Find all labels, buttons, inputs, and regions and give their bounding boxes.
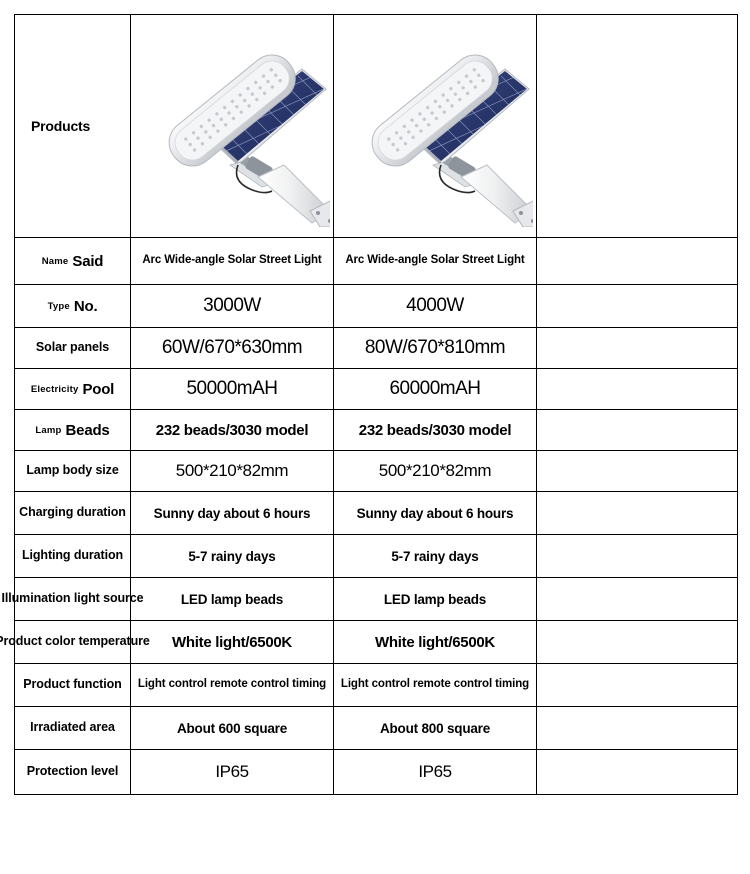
table-row: Type No. 3000W 4000W — [15, 285, 738, 328]
row-label-lighting-duration: Lighting duration — [15, 535, 131, 578]
blank-cell — [537, 410, 738, 451]
cell-value: 5-7 rainy days — [131, 549, 333, 564]
blank-cell — [537, 451, 738, 492]
cell-value: 60W/670*630mm — [131, 337, 333, 359]
row-label-lamp-beads: Lamp Beads — [15, 410, 131, 451]
row-label-main: Illumination light source — [2, 591, 144, 607]
blank-cell — [537, 621, 738, 664]
row-label-main: Lighting duration — [22, 548, 123, 564]
row-label-illumination-light-source: Illumination light source — [15, 578, 131, 621]
cell-value: IP65 — [334, 762, 536, 782]
row-label-main: Beads — [66, 422, 110, 439]
solar-street-light-icon — [131, 15, 333, 237]
cell-value: Light control remote control timing — [334, 677, 536, 693]
row-label-main: Charging duration — [19, 505, 126, 521]
blank-cell — [537, 492, 738, 535]
cell-product-b: 60000mAH — [334, 369, 537, 410]
cell-value: Sunny day about 6 hours — [131, 506, 333, 521]
cell-value: IP65 — [131, 762, 333, 782]
cell-product-a: 500*210*82mm — [131, 451, 334, 492]
row-label-charging-duration: Charging duration — [15, 492, 131, 535]
cell-value: Sunny day about 6 hours — [334, 506, 536, 521]
table-row: Protection level IP65 IP65 — [15, 750, 738, 795]
product-a-image-cell — [131, 15, 334, 238]
row-label-main: Product color temperature — [0, 634, 150, 650]
cell-value: Light control remote control timing — [131, 677, 333, 693]
row-label-product-function: Product function — [15, 664, 131, 707]
cell-value: 80W/670*810mm — [334, 337, 536, 359]
table-row: Irradiated area About 600 square About 8… — [15, 707, 738, 750]
cell-value: About 800 square — [334, 721, 536, 736]
table-row: Lamp Beads 232 beads/3030 model 232 bead… — [15, 410, 738, 451]
row-label-lamp-body-size: Lamp body size — [15, 451, 131, 492]
cell-product-a: White light/6500K — [131, 621, 334, 664]
cell-product-b: 5-7 rainy days — [334, 535, 537, 578]
cell-product-a: Sunny day about 6 hours — [131, 492, 334, 535]
cell-product-a: Arc Wide-angle Solar Street Light — [131, 238, 334, 285]
cell-product-a: 60W/670*630mm — [131, 328, 334, 369]
product-specification-table: Products — [14, 14, 738, 795]
cell-value: Arc Wide-angle Solar Street Light — [334, 253, 536, 269]
blank-cell — [537, 535, 738, 578]
row-label-main: Said — [72, 253, 103, 270]
blank-cell — [537, 285, 738, 328]
cell-value: 3000W — [131, 295, 333, 317]
row-label-main: Protection level — [27, 764, 119, 780]
cell-product-b: 500*210*82mm — [334, 451, 537, 492]
cell-product-a: About 600 square — [131, 707, 334, 750]
blank-column-header-cell — [537, 15, 738, 238]
cell-value: LED lamp beads — [334, 592, 536, 607]
cell-value: 500*210*82mm — [334, 461, 536, 481]
table-row: Product color temperature White light/65… — [15, 621, 738, 664]
blank-cell — [537, 750, 738, 795]
cell-value: 4000W — [334, 295, 536, 317]
row-label-electricity-pool: Electricity Pool — [15, 369, 131, 410]
table-row: Lamp body size 500*210*82mm 500*210*82mm — [15, 451, 738, 492]
specification-sheet: Products — [0, 0, 750, 874]
row-label-type: Type No. — [15, 285, 131, 328]
cell-product-a: Light control remote control timing — [131, 664, 334, 707]
cell-value: 60000mAH — [334, 378, 536, 400]
row-label-solar-panels: Solar panels — [15, 328, 131, 369]
row-label-main: No. — [74, 298, 98, 315]
row-label-prefix: Name — [42, 256, 69, 267]
table-row: Solar panels 60W/670*630mm 80W/670*810mm — [15, 328, 738, 369]
cell-product-b: Sunny day about 6 hours — [334, 492, 537, 535]
cell-product-a: LED lamp beads — [131, 578, 334, 621]
cell-product-a: 3000W — [131, 285, 334, 328]
products-header-cell: Products — [15, 15, 131, 238]
cell-value: 50000mAH — [131, 378, 333, 400]
cell-value: 232 beads/3030 model — [334, 422, 536, 439]
cell-product-b: LED lamp beads — [334, 578, 537, 621]
cell-product-b: White light/6500K — [334, 621, 537, 664]
cell-value: 500*210*82mm — [131, 461, 333, 481]
cell-value: White light/6500K — [131, 634, 333, 651]
cell-value: Arc Wide-angle Solar Street Light — [131, 253, 333, 269]
blank-cell — [537, 369, 738, 410]
table-body: Products — [15, 15, 738, 795]
table-row: Charging duration Sunny day about 6 hour… — [15, 492, 738, 535]
cell-product-a: 5-7 rainy days — [131, 535, 334, 578]
row-label-prefix: Lamp — [35, 425, 61, 436]
row-label-prefix: Type — [48, 301, 70, 312]
blank-cell — [537, 707, 738, 750]
cell-product-b: Arc Wide-angle Solar Street Light — [334, 238, 537, 285]
cell-value: 5-7 rainy days — [334, 549, 536, 564]
cell-product-b: 232 beads/3030 model — [334, 410, 537, 451]
blank-cell — [537, 238, 738, 285]
cell-value: LED lamp beads — [131, 592, 333, 607]
cell-product-b: 4000W — [334, 285, 537, 328]
cell-product-a: 50000mAH — [131, 369, 334, 410]
row-label-name: Name Said — [15, 238, 131, 285]
solar-street-light-icon — [334, 15, 536, 237]
cell-product-b: About 800 square — [334, 707, 537, 750]
blank-cell — [537, 328, 738, 369]
cell-product-a: 232 beads/3030 model — [131, 410, 334, 451]
table-row: Illumination light source LED lamp beads… — [15, 578, 738, 621]
row-label-prefix: Electricity — [31, 384, 79, 395]
cell-value: About 600 square — [131, 721, 333, 736]
row-label-main: Product function — [23, 677, 121, 693]
table-row: Product function Light control remote co… — [15, 664, 738, 707]
products-label: Products — [15, 118, 130, 134]
table-row: Electricity Pool 50000mAH 60000mAH — [15, 369, 738, 410]
table-row: Name Said Arc Wide-angle Solar Street Li… — [15, 238, 738, 285]
products-image-row: Products — [15, 15, 738, 238]
cell-product-b: 80W/670*810mm — [334, 328, 537, 369]
row-label-main: Pool — [82, 381, 114, 398]
row-label-product-color-temperature: Product color temperature — [15, 621, 131, 664]
cell-product-b: IP65 — [334, 750, 537, 795]
blank-cell — [537, 664, 738, 707]
row-label-main: Lamp body size — [26, 463, 118, 479]
product-b-image-cell — [334, 15, 537, 238]
table-row: Lighting duration 5-7 rainy days 5-7 rai… — [15, 535, 738, 578]
blank-cell — [537, 578, 738, 621]
cell-value: 232 beads/3030 model — [131, 422, 333, 439]
cell-product-b: Light control remote control timing — [334, 664, 537, 707]
row-label-main: Solar panels — [36, 340, 109, 356]
cell-value: White light/6500K — [334, 634, 536, 651]
cell-product-a: IP65 — [131, 750, 334, 795]
row-label-irradiated-area: Irradiated area — [15, 707, 131, 750]
row-label-protection-level: Protection level — [15, 750, 131, 795]
row-label-main: Irradiated area — [30, 720, 115, 736]
